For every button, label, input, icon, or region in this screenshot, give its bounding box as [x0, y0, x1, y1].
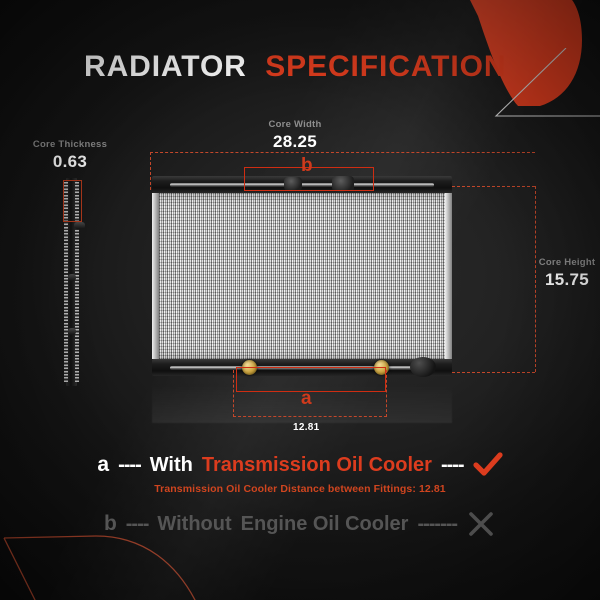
legend-a-text-accent: Transmission Oil Cooler — [202, 454, 432, 477]
core-thickness-caption: Core Thickness — [18, 140, 122, 151]
core-thickness-label: Core Thickness 0.63 — [18, 140, 122, 171]
marker-a-label: a — [301, 388, 312, 410]
core-width-value: 28.25 — [240, 132, 350, 151]
radiator-specification-image: RADIATOR SPECIFICATION Core Thickness 0.… — [0, 0, 600, 600]
legend-b-dash-right: ------- — [417, 513, 457, 536]
legend-a-dash-left: ---- — [118, 454, 141, 477]
legend-a-text-plain: With — [150, 454, 193, 477]
legend-row-a: a ---- With Transmission Oil Cooler ---- — [0, 452, 600, 478]
check-icon — [473, 452, 503, 478]
side-view-thickness-box — [63, 180, 82, 222]
core-height-label: Core Height 15.75 — [536, 258, 598, 289]
core-right-edge — [445, 193, 452, 359]
side-view-bracket-mid — [68, 274, 76, 281]
radiator-front-view — [152, 176, 452, 376]
core-height-caption: Core Height — [536, 258, 598, 269]
legend-b-text-plain: Without — [157, 513, 231, 536]
legend-b-text-accent: Engine Oil Cooler — [241, 513, 409, 536]
core-width-caption: Core Width — [240, 120, 350, 131]
legend-a-dash-right: ---- — [441, 454, 464, 477]
radiator-side-view — [60, 178, 84, 386]
legend-b-key: b — [104, 512, 117, 536]
marker-b-label: b — [301, 155, 313, 177]
cross-icon — [466, 511, 496, 537]
core-height-guide-right — [535, 186, 536, 372]
legend-a-key: a — [97, 453, 109, 477]
side-view-outlet-upper — [74, 222, 85, 229]
core-thickness-value: 0.63 — [18, 152, 122, 171]
legend: a ---- With Transmission Oil Cooler ----… — [0, 452, 600, 537]
core-width-guide-top — [150, 152, 535, 153]
core-height-guide-top — [452, 186, 535, 187]
radiator-core-fins — [152, 193, 452, 359]
core-height-value: 15.75 — [536, 270, 598, 289]
core-left-edge — [152, 193, 159, 359]
lower-hose-outlet — [410, 357, 436, 377]
side-view-bracket-lower — [68, 328, 76, 335]
core-height-guide-bottom — [452, 372, 535, 373]
fitting-distance-value: 12.81 — [293, 422, 320, 433]
core-width-label: Core Width 28.25 — [240, 120, 350, 151]
legend-a-subtitle: Transmission Oil Cooler Distance between… — [0, 483, 600, 495]
title-part-two: SPECIFICATION — [265, 50, 506, 83]
legend-b-dash-left: ---- — [126, 513, 149, 536]
page-title: RADIATOR SPECIFICATION — [84, 50, 506, 84]
title-part-one: RADIATOR — [84, 50, 247, 83]
core-width-guide-left — [150, 152, 151, 190]
legend-row-b: b ---- Without Engine Oil Cooler ------- — [0, 511, 600, 537]
